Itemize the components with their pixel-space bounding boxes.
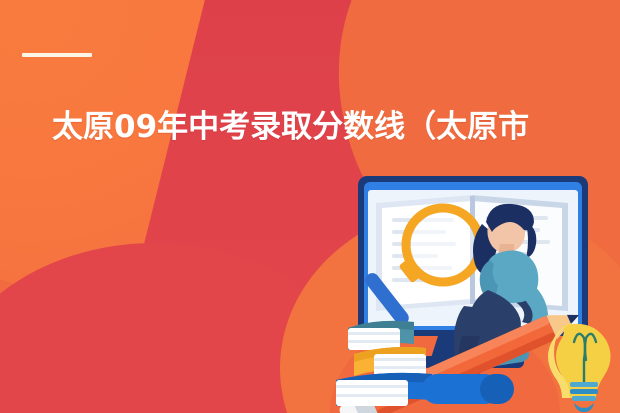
lightbulb-icon xyxy=(548,322,611,412)
study-search-illustration xyxy=(330,168,620,413)
decorative-rule xyxy=(22,53,92,57)
background-blob-upper-left xyxy=(0,0,320,295)
page-title: 太原09年中考录取分数线（太原市 xyxy=(52,107,612,147)
promo-banner: 太原09年中考录取分数线（太原市 xyxy=(0,0,620,413)
background-blob-lower-left xyxy=(0,243,370,413)
blue-roll-icon xyxy=(422,374,514,404)
